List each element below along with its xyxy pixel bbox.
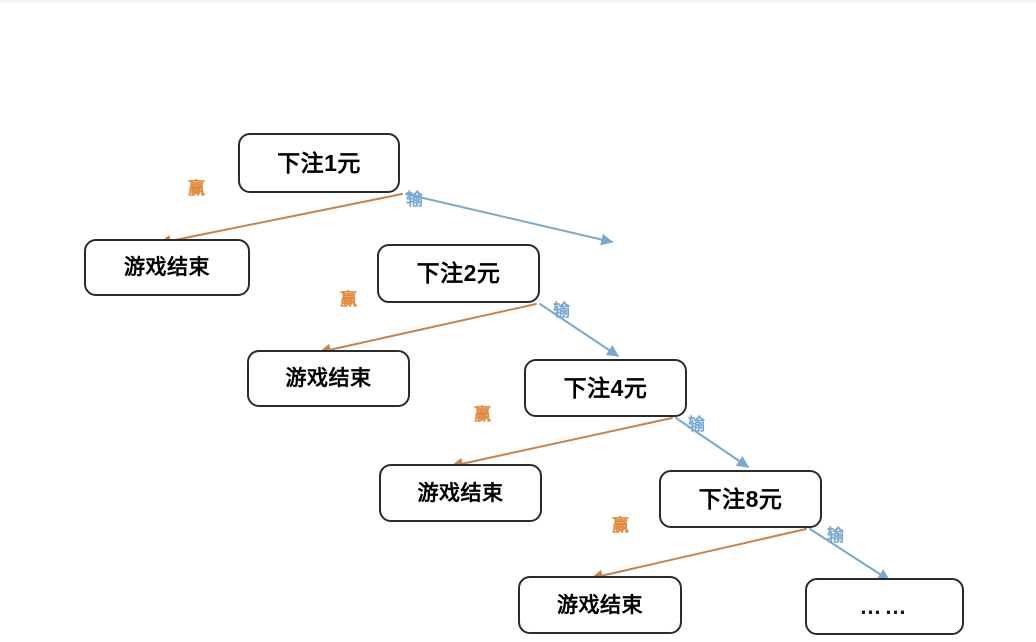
edge-label-e8: 输 (827, 527, 844, 544)
edge-label-e2: 输 (406, 191, 423, 208)
edge-label-e6: 输 (688, 416, 705, 433)
edge-e1 (160, 194, 402, 243)
edge-label-e5: 赢 (474, 406, 491, 423)
node-label: 下注1元 (277, 152, 361, 175)
node-bet1[interactable]: 下注1元 (238, 133, 400, 193)
node-over4[interactable]: 游戏结束 (518, 576, 682, 634)
node-over2[interactable]: 游戏结束 (247, 350, 410, 407)
edge-label-e3: 赢 (340, 291, 357, 308)
node-bet4[interactable]: 下注4元 (524, 359, 687, 417)
edge-e3 (320, 304, 536, 352)
node-label: 下注8元 (699, 488, 783, 511)
edge-label-e7: 赢 (612, 517, 629, 534)
node-over1[interactable]: 游戏结束 (84, 239, 250, 296)
node-label: 下注4元 (564, 377, 648, 400)
edge-e5 (452, 418, 672, 466)
node-label: 游戏结束 (286, 368, 372, 389)
edge-e8 (810, 529, 889, 580)
diagram-canvas: 下注1元游戏结束下注2元游戏结束下注4元游戏结束下注8元游戏结束…… 赢输赢输赢… (0, 0, 1036, 642)
edge-e6 (676, 418, 748, 467)
edge-e2 (406, 194, 612, 242)
node-over3[interactable]: 游戏结束 (379, 464, 542, 522)
edge-e7 (592, 529, 806, 578)
node-label: 下注2元 (417, 262, 501, 285)
edge-label-e1: 赢 (188, 180, 205, 197)
edge-layer (0, 0, 1036, 642)
edge-label-e4: 输 (553, 302, 570, 319)
node-label: 游戏结束 (418, 483, 504, 504)
node-label: 游戏结束 (124, 257, 210, 278)
edge-e4 (540, 304, 618, 356)
node-bet2[interactable]: 下注2元 (377, 244, 540, 303)
node-more[interactable]: …… (805, 578, 964, 635)
node-label: …… (860, 596, 910, 618)
node-bet8[interactable]: 下注8元 (659, 470, 822, 528)
node-label: 游戏结束 (557, 595, 643, 616)
